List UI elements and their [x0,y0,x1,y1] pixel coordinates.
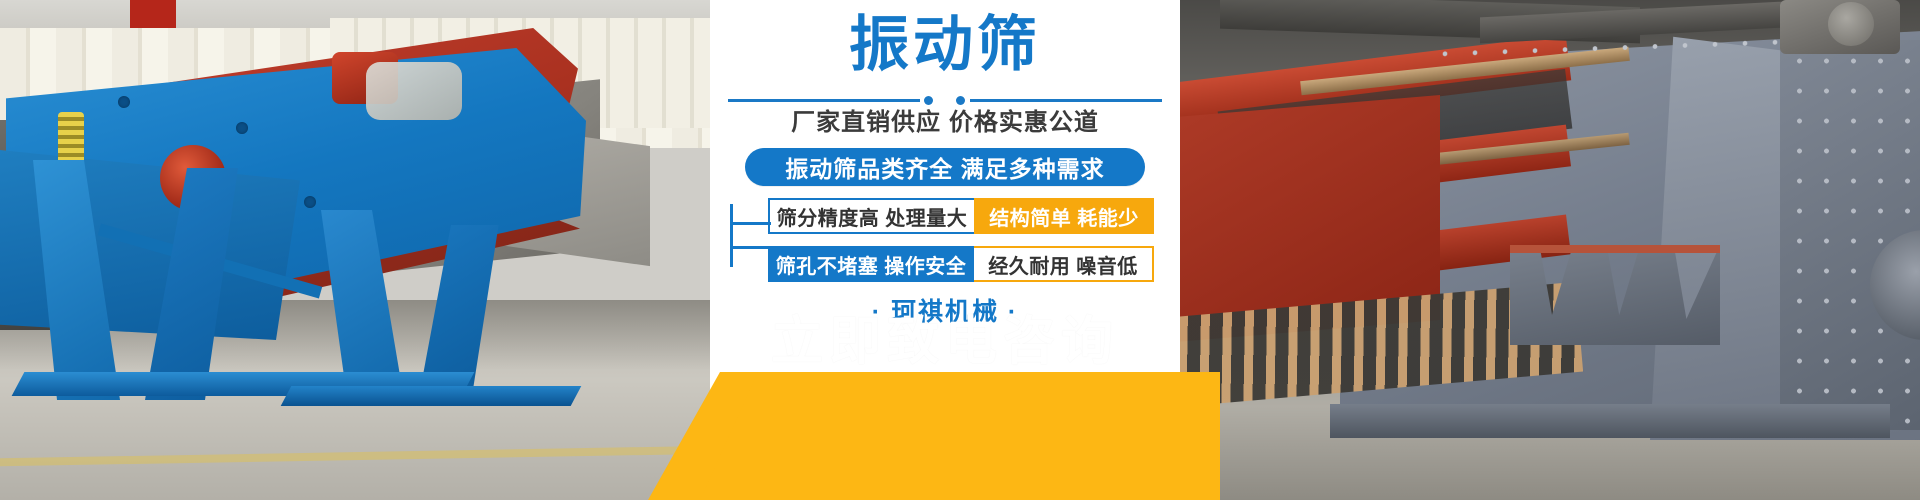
bolt [118,96,130,108]
wall-red-tag [130,0,176,28]
cta-band [700,372,1220,500]
vee-plate-edge [1510,245,1720,253]
divider-line-right [970,99,1162,102]
connector-bracket-icon [730,222,771,267]
product-photo-left [0,0,720,500]
divider-dot [924,96,933,105]
base-rail [281,386,582,406]
top-motor-pulley [1828,2,1874,46]
cta-text[interactable]: 立即致电咨询 [710,310,1180,374]
feature-row-2-right: 经久耐用 噪音低 [974,246,1154,282]
product-photo-right [1180,0,1920,500]
feature-row-1-left: 筛分精度高 处理量大 [768,198,974,234]
base-frame [1330,404,1890,438]
bolt [236,122,248,134]
title-divider [728,94,1162,106]
divider-line-left [728,99,920,102]
feature-row-1: 筛分精度高 处理量大 结构简单 耗能少 [768,198,1154,234]
banner-subtitle: 厂家直销供应 价格实惠公道 [710,106,1180,140]
feature-row-1-right: 结构简单 耗能少 [974,198,1154,234]
divider-dot [956,96,965,105]
feature-row-2: 筛孔不堵塞 操作安全 经久耐用 噪音低 [768,246,1154,282]
banner-title: 振动筛 [710,14,1180,76]
bolt [304,196,316,208]
motor-cover [366,62,462,120]
feature-row-2-left: 筛孔不堵塞 操作安全 [768,246,974,282]
highlight-pill: 振动筛品类齐全 满足多种需求 [745,148,1145,186]
promo-banner: 振动筛 厂家直销供应 价格实惠公道 振动筛品类齐全 满足多种需求 筛分精度高 处… [0,0,1920,500]
